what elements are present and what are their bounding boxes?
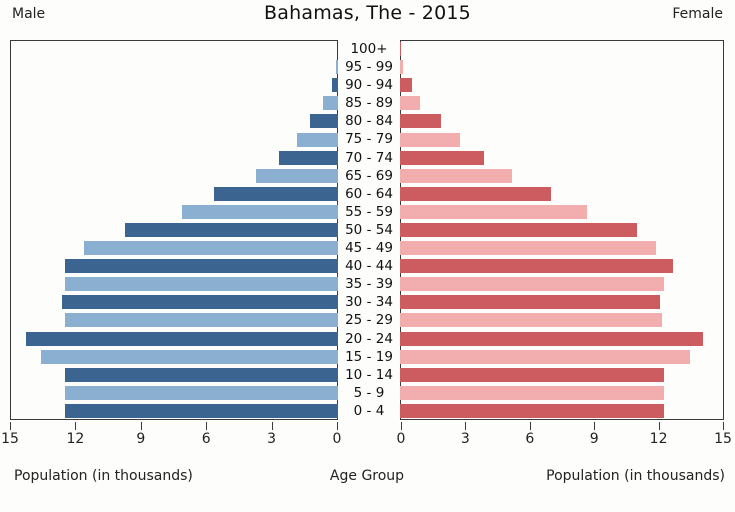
female-bar[interactable]	[400, 368, 664, 382]
chart-title: Bahamas, The - 2015	[0, 2, 735, 24]
male-bar-cell	[10, 185, 338, 203]
female-bar[interactable]	[400, 350, 690, 364]
pyramid-row: 80 - 84	[0, 112, 735, 130]
age-group-label: 25 - 29	[338, 311, 400, 329]
x-tick-label-right: 15	[714, 431, 732, 447]
female-bar-cell	[400, 203, 724, 221]
x-tick-left	[272, 422, 273, 430]
male-bar-cell	[10, 58, 338, 76]
pyramid-row: 75 - 79	[0, 130, 735, 148]
pyramid-row: 0 - 4	[0, 402, 735, 420]
x-tick-right	[401, 422, 402, 430]
age-group-label: 75 - 79	[338, 130, 400, 148]
male-bar-cell	[10, 130, 338, 148]
male-bar-cell	[10, 275, 338, 293]
female-bar-cell	[400, 58, 724, 76]
x-tick-label-right: 12	[650, 431, 668, 447]
x-tick-label-left: 3	[267, 431, 276, 447]
male-bar[interactable]	[214, 187, 338, 201]
age-group-label: 45 - 49	[338, 239, 400, 257]
female-bar-cell	[400, 112, 724, 130]
male-bar-cell	[10, 366, 338, 384]
female-bar[interactable]	[400, 96, 420, 110]
population-pyramid-plot: 100+95 - 9990 - 9485 - 8980 - 8475 - 797…	[0, 38, 735, 422]
x-tick-left	[206, 422, 207, 430]
female-bar-cell	[400, 348, 724, 366]
x-tick-label-right: 0	[397, 431, 406, 447]
age-group-label: 95 - 99	[338, 58, 400, 76]
female-bar[interactable]	[400, 205, 587, 219]
male-bar-cell	[10, 384, 338, 402]
female-bar[interactable]	[400, 404, 664, 418]
pyramid-row: 55 - 59	[0, 203, 735, 221]
female-bar[interactable]	[400, 151, 484, 165]
female-bar[interactable]	[400, 332, 703, 346]
female-bar-cell	[400, 293, 724, 311]
age-group-label: 5 - 9	[338, 384, 400, 402]
pyramid-row: 70 - 74	[0, 149, 735, 167]
female-bar-cell	[400, 275, 724, 293]
male-bar-cell	[10, 76, 338, 94]
female-bar[interactable]	[400, 60, 403, 74]
pyramid-row: 25 - 29	[0, 311, 735, 329]
male-bar-cell	[10, 112, 338, 130]
male-bar[interactable]	[125, 223, 338, 237]
female-bar[interactable]	[400, 223, 637, 237]
age-group-label: 65 - 69	[338, 167, 400, 185]
pyramid-row: 15 - 19	[0, 348, 735, 366]
age-group-label: 35 - 39	[338, 275, 400, 293]
age-group-label: 100+	[338, 40, 400, 58]
female-bar[interactable]	[400, 187, 551, 201]
age-group-label: 50 - 54	[338, 221, 400, 239]
female-side-label: Female	[672, 6, 723, 22]
age-group-label: 55 - 59	[338, 203, 400, 221]
x-tick-left	[141, 422, 142, 430]
x-tick-label-left: 6	[202, 431, 211, 447]
right-axis-title: Population (in thousands)	[546, 468, 725, 484]
pyramid-row: 60 - 64	[0, 185, 735, 203]
female-bar[interactable]	[400, 386, 664, 400]
age-group-label: 70 - 74	[338, 149, 400, 167]
male-bar-cell	[10, 330, 338, 348]
pyramid-row: 95 - 99	[0, 58, 735, 76]
male-bar[interactable]	[41, 350, 338, 364]
x-tick-left	[10, 422, 11, 430]
male-bar-cell	[10, 311, 338, 329]
x-tick-left	[75, 422, 76, 430]
male-bar[interactable]	[323, 96, 338, 110]
male-bar[interactable]	[310, 114, 338, 128]
pyramid-row: 45 - 49	[0, 239, 735, 257]
male-bar-cell	[10, 149, 338, 167]
x-tick-left	[337, 422, 338, 430]
male-bar-cell	[10, 221, 338, 239]
x-tick-label-right: 3	[461, 431, 470, 447]
pyramid-row: 10 - 14	[0, 366, 735, 384]
male-bar[interactable]	[279, 151, 338, 165]
female-bar[interactable]	[400, 114, 441, 128]
male-bar-cell	[10, 402, 338, 420]
female-bar[interactable]	[400, 78, 412, 92]
x-tick-label-left: 12	[66, 431, 84, 447]
female-bar[interactable]	[400, 169, 512, 183]
male-bar[interactable]	[65, 277, 338, 291]
male-bar[interactable]	[65, 386, 338, 400]
pyramid-row: 35 - 39	[0, 275, 735, 293]
male-bar-cell	[10, 40, 338, 58]
male-bar[interactable]	[182, 205, 338, 219]
x-tick-right	[594, 422, 595, 430]
female-bar[interactable]	[400, 133, 460, 147]
female-bar-cell	[400, 40, 724, 58]
male-bar-cell	[10, 257, 338, 275]
male-bar[interactable]	[297, 133, 338, 147]
age-group-label: 30 - 34	[338, 293, 400, 311]
female-bar-cell	[400, 311, 724, 329]
female-bar-cell	[400, 384, 724, 402]
pyramid-row: 40 - 44	[0, 257, 735, 275]
female-bar[interactable]	[400, 259, 673, 273]
x-tick-label-right: 6	[525, 431, 534, 447]
pyramid-row: 85 - 89	[0, 94, 735, 112]
age-group-label: 60 - 64	[338, 185, 400, 203]
x-axis: 1512963003691215	[0, 422, 735, 462]
male-bar[interactable]	[65, 404, 338, 418]
age-group-label: 80 - 84	[338, 112, 400, 130]
center-axis-title: Age Group	[330, 468, 404, 484]
male-bar-cell	[10, 94, 338, 112]
x-tick-label-left: 0	[333, 431, 342, 447]
female-bar-cell	[400, 330, 724, 348]
female-bar[interactable]	[400, 313, 662, 327]
age-group-label: 40 - 44	[338, 257, 400, 275]
female-bar-cell	[400, 130, 724, 148]
female-bar-cell	[400, 76, 724, 94]
male-bar-cell	[10, 293, 338, 311]
x-tick-label-left: 15	[1, 431, 19, 447]
female-bar[interactable]	[400, 295, 660, 309]
chart-header: Male Bahamas, The - 2015 Female	[0, 0, 735, 38]
male-bar[interactable]	[65, 259, 338, 273]
female-bar-cell	[400, 149, 724, 167]
pyramid-row: 5 - 9	[0, 384, 735, 402]
female-bar-cell	[400, 402, 724, 420]
male-bar-cell	[10, 203, 338, 221]
x-tick-label-left: 9	[136, 431, 145, 447]
female-bar-cell	[400, 257, 724, 275]
x-tick-right	[659, 422, 660, 430]
female-bar[interactable]	[400, 241, 656, 255]
male-bar[interactable]	[84, 241, 338, 255]
pyramid-row: 65 - 69	[0, 167, 735, 185]
male-bar-cell	[10, 239, 338, 257]
female-bar-cell	[400, 94, 724, 112]
pyramid-row: 100+	[0, 40, 735, 58]
male-bar[interactable]	[256, 169, 338, 183]
female-bar-cell	[400, 221, 724, 239]
female-bar-cell	[400, 185, 724, 203]
left-axis-title: Population (in thousands)	[14, 468, 193, 484]
female-bar[interactable]	[400, 277, 664, 291]
female-bar-cell	[400, 366, 724, 384]
male-bar[interactable]	[65, 313, 338, 327]
pyramid-row: 90 - 94	[0, 76, 735, 94]
male-bar[interactable]	[62, 295, 338, 309]
age-group-label: 20 - 24	[338, 330, 400, 348]
female-bar[interactable]	[400, 42, 401, 56]
age-group-label: 15 - 19	[338, 348, 400, 366]
pyramid-row: 30 - 34	[0, 293, 735, 311]
chart-footer: Population (in thousands) Age Group Popu…	[0, 468, 735, 498]
age-group-label: 0 - 4	[338, 402, 400, 420]
age-group-label: 90 - 94	[338, 76, 400, 94]
male-bar[interactable]	[26, 332, 338, 346]
x-tick-label-right: 9	[590, 431, 599, 447]
female-bar-cell	[400, 239, 724, 257]
x-tick-right	[723, 422, 724, 430]
x-tick-right	[465, 422, 466, 430]
x-tick-right	[530, 422, 531, 430]
male-bar-cell	[10, 167, 338, 185]
male-bar[interactable]	[65, 368, 338, 382]
pyramid-rows: 100+95 - 9990 - 9485 - 8980 - 8475 - 797…	[0, 40, 735, 420]
male-bar-cell	[10, 348, 338, 366]
age-group-label: 10 - 14	[338, 366, 400, 384]
age-group-label: 85 - 89	[338, 94, 400, 112]
pyramid-row: 50 - 54	[0, 221, 735, 239]
female-bar-cell	[400, 167, 724, 185]
pyramid-row: 20 - 24	[0, 330, 735, 348]
